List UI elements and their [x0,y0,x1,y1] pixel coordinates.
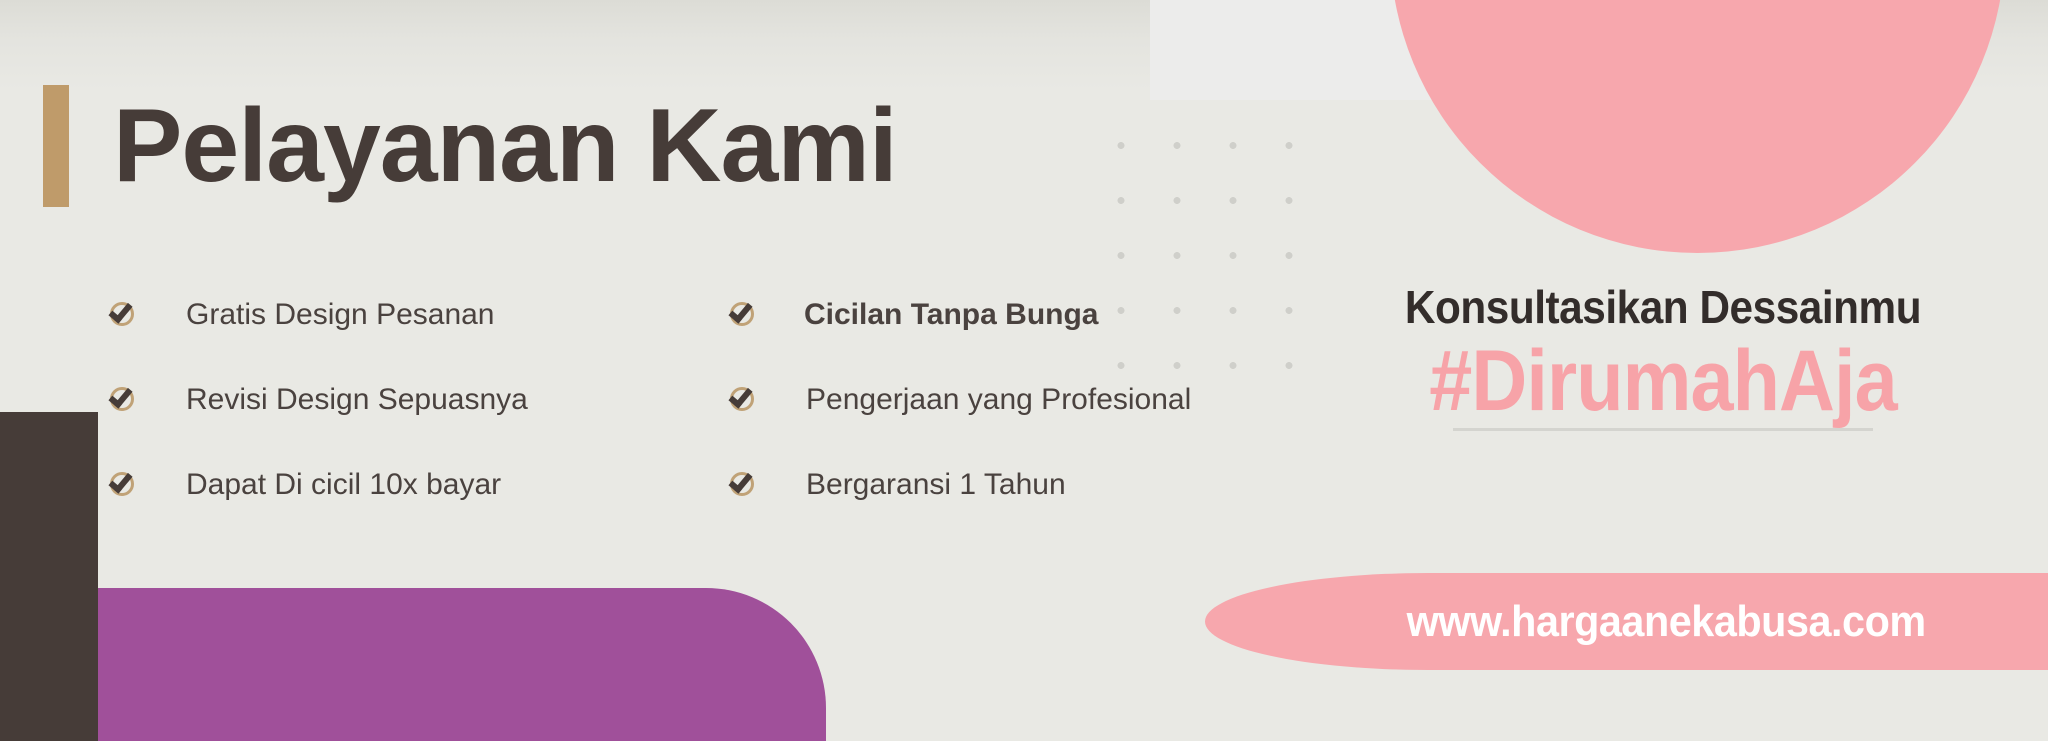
feature-item-dapat-di-cicil-10x-bayar: Dapat Di cicil 10x bayar [108,442,728,527]
dark-brown-bar-decoration [0,412,98,741]
page-title: Pelayanan Kami [113,94,897,198]
website-url-text: www.hargaanekabusa.com [1407,597,1926,647]
title-accent-bar [43,85,69,207]
check-circle-icon [108,383,142,417]
purple-rounded-shape-decoration [98,588,826,741]
feature-item-gratis-design-pesanan: Gratis Design Pesanan [108,272,728,357]
feature-item-pengerjaan-yang-profesional: Pengerjaan yang Profesional [728,357,1191,442]
feature-item-bergaransi-1-tahun: Bergaransi 1 Tahun [728,442,1191,527]
feature-label: Bergaransi 1 Tahun [776,468,1066,502]
feature-label: Revisi Design Sepuasnya [156,383,528,417]
pink-circle-decoration [1390,0,2005,253]
check-circle-icon [728,298,762,332]
check-circle-icon [728,383,762,417]
feature-label: Cicilan Tanpa Bunga [776,298,1098,332]
feature-label: Pengerjaan yang Profesional [776,383,1191,417]
feature-list: Gratis Design Pesanan Cicilan Tanpa Bung… [108,272,1191,527]
feature-item-revisi-design-sepuasnya: Revisi Design Sepuasnya [108,357,728,442]
check-circle-icon [728,468,762,502]
promo-headline: Konsultasikan Dessainmu [1334,280,1993,334]
website-url-bar[interactable]: www.hargaanekabusa.com [1205,573,2048,670]
feature-label: Dapat Di cicil 10x bayar [156,468,501,502]
services-promo-banner: Pelayanan Kami Gratis Design Pesanan Cic… [0,0,2048,741]
page-title-row: Pelayanan Kami [43,85,897,207]
check-circle-icon [108,298,142,332]
feature-item-cicilan-tanpa-bunga: Cicilan Tanpa Bunga [728,272,1191,357]
promo-block: Konsultasikan Dessainmu #DirumahAja [1305,280,2021,431]
check-circle-icon [108,468,142,502]
feature-label: Gratis Design Pesanan [156,298,495,332]
promo-hashtag: #DirumahAja [1341,336,1985,426]
